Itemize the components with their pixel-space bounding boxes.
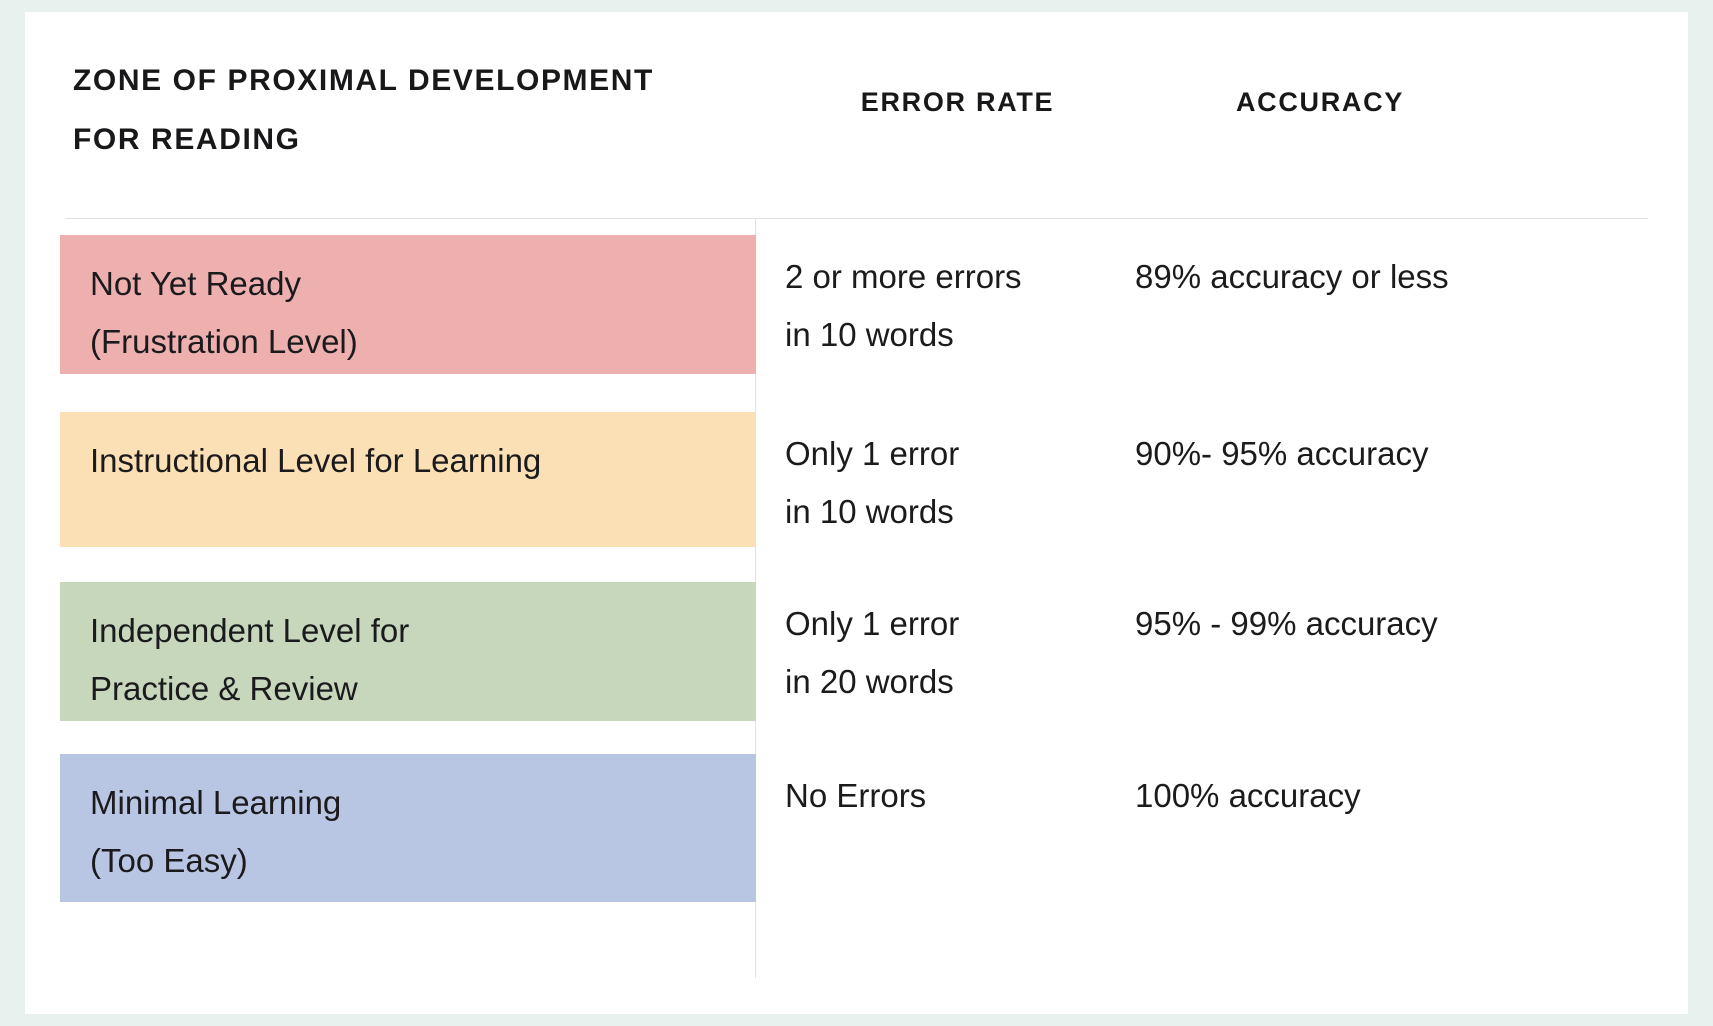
accuracy-cell: 89% accuracy or less xyxy=(1135,248,1449,306)
zone-swatch: Minimal Learning (Too Easy) xyxy=(60,754,756,902)
zone-label-line1: Instructional Level for Learning xyxy=(90,432,756,490)
accuracy-line1: 95% - 99% accuracy xyxy=(1135,595,1438,653)
zone-label-line2: (Frustration Level) xyxy=(90,313,756,371)
error-rate-line1: No Errors xyxy=(785,767,926,825)
error-rate-line2: in 10 words xyxy=(785,306,1022,364)
table-card: Zone of Proximal Development for Reading… xyxy=(25,12,1688,1014)
zone-label-line2: Practice & Review xyxy=(90,660,756,718)
zone-label-line2: (Too Easy) xyxy=(90,832,756,890)
error-rate-cell: No Errors xyxy=(785,767,926,825)
error-rate-line1: Only 1 error xyxy=(785,595,959,653)
zone-label-line1: Not Yet Ready xyxy=(90,255,756,313)
page-title: Zone of Proximal Development for Reading xyxy=(73,52,713,169)
accuracy-line1: 90%- 95% accuracy xyxy=(1135,425,1428,483)
error-rate-line1: 2 or more errors xyxy=(785,248,1022,306)
zone-swatch: Instructional Level for Learning xyxy=(60,412,756,547)
error-rate-cell: 2 or more errors in 10 words xyxy=(785,248,1022,364)
zone-swatch: Not Yet Ready (Frustration Level) xyxy=(60,235,756,374)
error-rate-line2: in 20 words xyxy=(785,653,959,711)
table-header: Zone of Proximal Development for Reading… xyxy=(25,12,1688,230)
accuracy-line1: 100% accuracy xyxy=(1135,767,1361,825)
zone-label-line1: Minimal Learning xyxy=(90,774,756,832)
error-rate-line2: in 10 words xyxy=(785,483,959,541)
error-rate-line1: Only 1 error xyxy=(785,425,959,483)
accuracy-line1: 89% accuracy or less xyxy=(1135,248,1449,306)
accuracy-cell: 95% - 99% accuracy xyxy=(1135,595,1438,653)
zone-swatch: Independent Level for Practice & Review xyxy=(60,582,756,721)
zone-label-line1: Independent Level for xyxy=(90,602,756,660)
header-divider xyxy=(65,218,1648,219)
error-rate-cell: Only 1 error in 10 words xyxy=(785,425,959,541)
accuracy-cell: 100% accuracy xyxy=(1135,767,1361,825)
error-rate-cell: Only 1 error in 20 words xyxy=(785,595,959,711)
accuracy-cell: 90%- 95% accuracy xyxy=(1135,425,1428,483)
column-header-accuracy: Accuracy xyxy=(1155,87,1485,118)
column-header-error-rate: Error Rate xyxy=(785,87,1130,118)
